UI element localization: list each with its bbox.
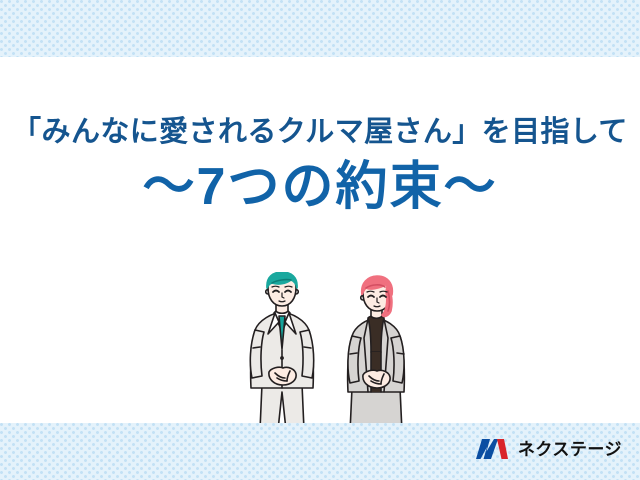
page-title: 「みんなに愛されるクルマ屋さん」を目指して ～7つの約束～ bbox=[0, 118, 640, 213]
promo-banner: 「みんなに愛されるクルマ屋さん」を目指して ～7つの約束～ bbox=[0, 0, 640, 480]
female-staff-figure bbox=[348, 276, 405, 432]
top-dot-band bbox=[0, 0, 640, 57]
staff-illustration bbox=[238, 272, 422, 432]
headline-line-1: 「みんなに愛されるクルマ屋さん」を目指して bbox=[0, 118, 640, 147]
brand-logo-text: ネクステージ bbox=[518, 441, 622, 458]
nextage-n-mark-icon bbox=[473, 437, 511, 461]
male-staff-figure bbox=[250, 272, 313, 430]
headline-line-2: ～7つの約束～ bbox=[0, 161, 640, 213]
staff-illustration-svg bbox=[238, 272, 422, 432]
brand-logo: ネクステージ bbox=[473, 437, 622, 461]
